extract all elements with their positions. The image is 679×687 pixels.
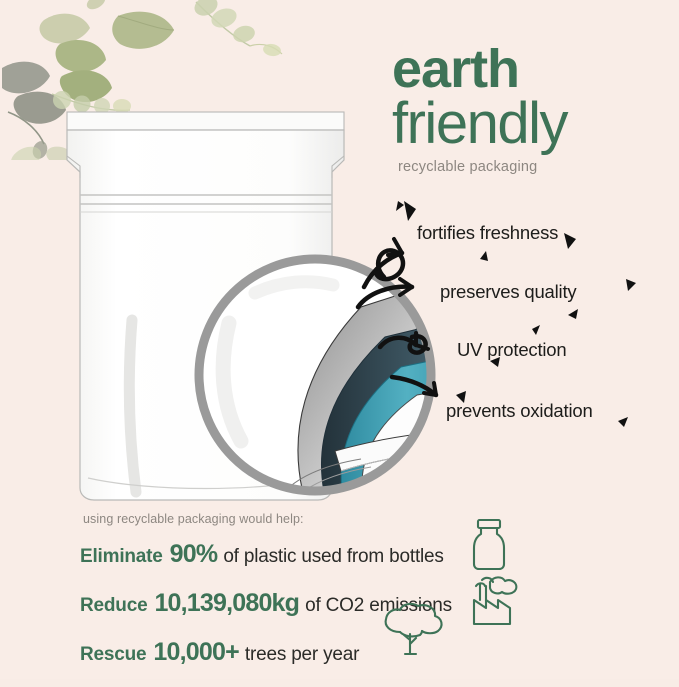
- magnifier-circle-layers: [185, 245, 445, 505]
- feature-label-uv-protection: UV protection: [457, 339, 566, 361]
- stat-number: 10,139,080kg: [154, 589, 299, 618]
- stat-verb: Reduce: [80, 595, 147, 617]
- feature-label-preserves-quality: preserves quality: [440, 281, 576, 303]
- feature-label-fortifies-freshness: fortifies freshness: [417, 222, 558, 244]
- title-line-earth: earth: [392, 44, 667, 96]
- stat-row: Eliminate 90% of plastic used from bottl…: [80, 540, 600, 569]
- stats-intro-text: using recyclable packaging would help:: [83, 512, 600, 526]
- stat-number: 10,000+: [153, 638, 238, 667]
- stat-verb: Eliminate: [80, 546, 163, 568]
- page-title: earth friendly recyclable packaging: [392, 44, 667, 175]
- feature-label-prevents-oxidation: prevents oxidation: [446, 400, 593, 422]
- infographic-canvas: earth friendly recyclable packaging: [0, 0, 679, 679]
- stat-verb: Rescue: [80, 644, 146, 666]
- stat-number: 90%: [170, 540, 218, 569]
- stat-row: Rescue 10,000+ trees per year: [80, 638, 600, 667]
- stat-row: Reduce 10,139,080kg of CO2 emissions: [80, 589, 600, 618]
- stats-section: using recyclable packaging would help: E…: [80, 512, 600, 687]
- stat-tail: of plastic used from bottles: [223, 546, 443, 568]
- title-line-friendly: friendly: [392, 96, 667, 153]
- stat-tail: of CO2 emissions: [305, 595, 452, 617]
- stat-tail: trees per year: [245, 644, 359, 666]
- title-subtitle: recyclable packaging: [398, 159, 667, 175]
